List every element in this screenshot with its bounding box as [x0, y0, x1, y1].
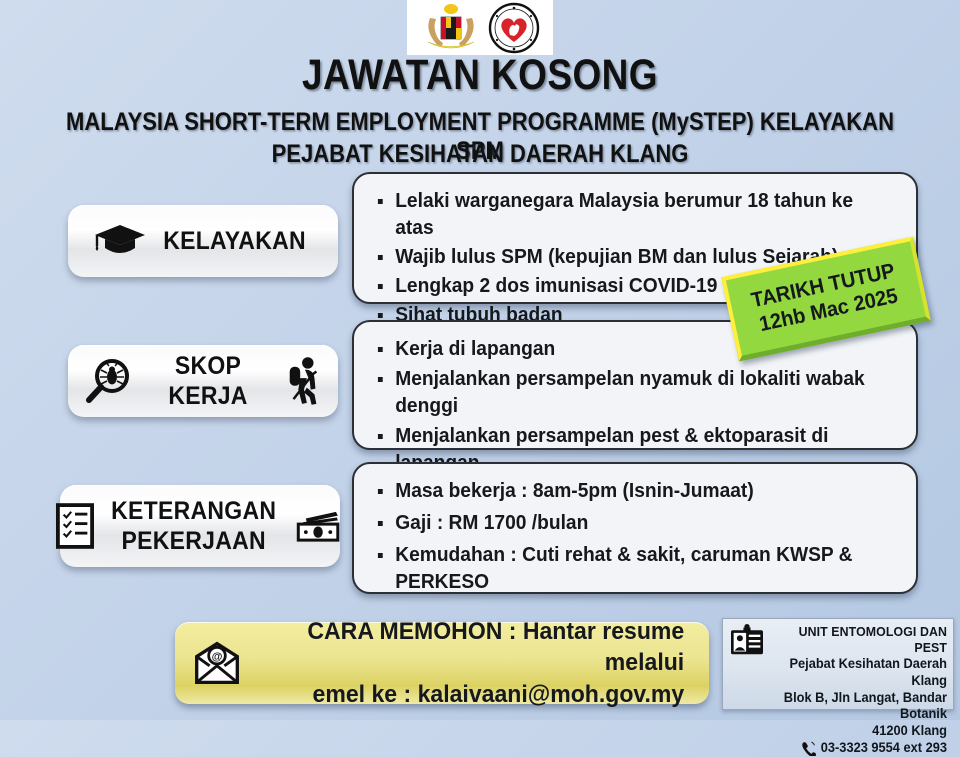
list-item: Masa bekerja : 8am-5pm (Isnin-Jumaat): [376, 478, 877, 505]
poster-subtitle-office: PEJABAT KESIHATAN DAERAH KLANG: [58, 140, 903, 169]
jata-negara-logo: [418, 2, 484, 54]
email-envelope-icon: @: [193, 641, 241, 685]
apply-line-1: CARA MEMOHON : Hantar resume melalui: [307, 618, 684, 677]
checklist-icon: [56, 502, 94, 550]
contact-address-line-2: Blok B, Jln Langat, Bandar Botanik: [780, 690, 947, 723]
svg-text:@: @: [212, 651, 223, 663]
banknotes-icon: [294, 510, 344, 542]
list-item: Gaji : RM 1700 /bulan: [376, 510, 877, 537]
contact-phone-row: 03-3323 9554 ext 293: [780, 740, 947, 757]
bullet-list: Kerja di lapangan Menjalankan persampela…: [376, 336, 898, 477]
contact-info-box: UNIT ENTOMOLOGI DAN PEST Pejabat Kesihat…: [722, 618, 954, 710]
section-button-label-line1: KETERANGAN: [111, 497, 276, 525]
contact-text: UNIT ENTOMOLOGI DAN PEST Pejabat Kesihat…: [780, 624, 947, 757]
contact-address-line-3: 41200 Klang: [780, 723, 947, 740]
apply-text: CARA MEMOHON : Hantar resume melalui eme…: [262, 616, 684, 711]
list-item: Kemudahan : Cuti rehat & sakit, caruman …: [376, 542, 877, 596]
kkm-logo: [486, 2, 542, 54]
contact-unit-title: UNIT ENTOMOLOGI DAN PEST: [780, 624, 947, 656]
graduation-cap-icon: [93, 221, 147, 261]
content-box-keterangan-pekerjaan: Masa bekerja : 8am-5pm (Isnin-Jumaat) Ga…: [352, 462, 918, 594]
bullet-list: Masa bekerja : 8am-5pm (Isnin-Jumaat) Ga…: [376, 478, 898, 596]
section-button-skop-kerja[interactable]: SKOP KERJA: [68, 345, 338, 417]
poster-canvas: JAWATAN KOSONG MALAYSIA SHORT-TERM EMPLO…: [0, 0, 960, 720]
phone-icon: [801, 741, 816, 756]
logo-strip: [407, 0, 553, 55]
poster-title: JAWATAN KOSONG: [67, 53, 893, 98]
section-button-label: SKOP KERJA: [147, 351, 268, 412]
section-button-label: KETERANGAN PEKERJAAN: [111, 496, 276, 557]
contact-phone-number: 03-3323 9554 ext 293: [821, 740, 947, 757]
id-card-icon: [729, 624, 765, 656]
apply-line-2: emel ke : kalaivaani@moh.gov.my: [313, 681, 685, 708]
section-button-label-line2: PEKERJAAN: [122, 527, 266, 555]
magnifier-bug-icon: [82, 357, 132, 405]
list-item: Menjalankan persampelan nyamuk di lokali…: [376, 366, 877, 420]
apply-instructions-bar: @ CARA MEMOHON : Hantar resume melalui e…: [175, 622, 709, 704]
hiker-icon: [284, 355, 324, 407]
contact-address-line-1: Pejabat Kesihatan Daerah Klang: [780, 656, 947, 689]
section-button-kelayakan[interactable]: KELAYAKAN: [68, 205, 338, 277]
section-button-label: KELAYAKAN: [164, 226, 307, 257]
list-item: Lelaki warganegara Malaysia berumur 18 t…: [376, 188, 877, 242]
section-button-keterangan-pekerjaan[interactable]: KETERANGAN PEKERJAAN: [60, 485, 340, 567]
